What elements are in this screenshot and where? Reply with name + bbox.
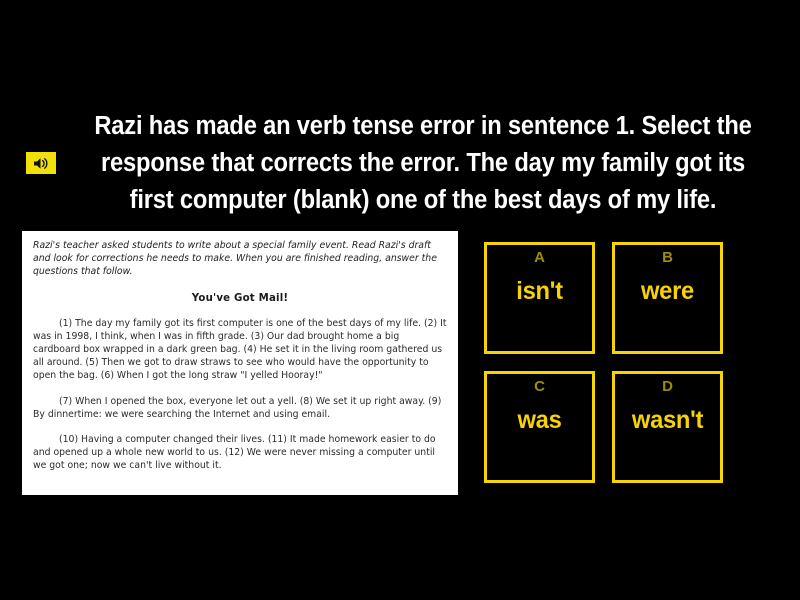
answer-value-a: isn't <box>490 277 590 305</box>
answer-letter-b: B <box>615 250 720 266</box>
question-header: Razi has made an verb tense error in sen… <box>0 108 800 220</box>
passage-paragraph-2: (7) When I opened the box, everyone let … <box>33 395 447 421</box>
answer-option-a[interactable]: A isn't <box>484 242 595 354</box>
answer-option-c[interactable]: C was <box>484 371 595 483</box>
passage-paragraph-1: (1) The day my family got its first comp… <box>33 317 447 383</box>
answer-value-c: was <box>490 406 590 434</box>
answer-option-d[interactable]: D wasn't <box>612 371 723 483</box>
passage-title: You've Got Mail! <box>33 293 447 304</box>
passage-panel: Razi's teacher asked students to write a… <box>22 231 458 495</box>
passage-instructions: Razi's teacher asked students to write a… <box>33 239 447 279</box>
answer-option-b[interactable]: B were <box>612 242 723 354</box>
answer-value-d: wasn't <box>618 406 718 434</box>
answer-options: A isn't B were C was D wasn't <box>484 242 724 485</box>
speaker-icon[interactable] <box>26 152 56 174</box>
answer-letter-d: D <box>615 379 720 395</box>
answer-letter-a: A <box>487 250 592 266</box>
passage-paragraph-3: (10) Having a computer changed their liv… <box>33 433 447 473</box>
answer-letter-c: C <box>487 379 592 395</box>
question-prompt: Razi has made an verb tense error in sen… <box>85 108 760 219</box>
answer-value-b: were <box>618 277 718 305</box>
